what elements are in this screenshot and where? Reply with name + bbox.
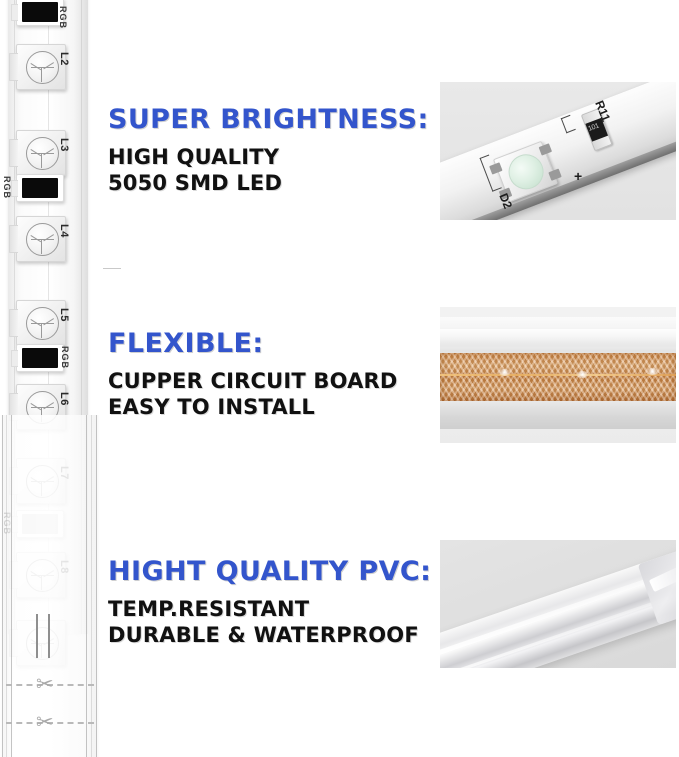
feature-line-1: HIGH QUALITY	[108, 144, 438, 170]
pvc-edge-line	[11, 415, 12, 757]
feature-line-2: DURABLE & WATERPROOF	[108, 622, 438, 648]
led-facet	[30, 149, 41, 156]
feature-heading: FLEXIBLE:	[108, 328, 438, 359]
specular-highlight	[646, 368, 659, 375]
led-facet	[43, 318, 54, 325]
hairline-divider	[103, 268, 121, 269]
solder-pad	[9, 139, 18, 167]
lead-wire	[48, 614, 50, 658]
pvc-edge-line	[2, 415, 3, 757]
silk-label-l5: L5	[58, 308, 70, 322]
led-module	[16, 216, 66, 262]
pvc-edge-line	[86, 415, 87, 757]
feature-heading: HIGHT QUALITY PVC:	[108, 556, 438, 587]
led-dome-icon	[26, 307, 59, 340]
clear-pvc-tube	[440, 317, 676, 429]
solder-pad	[9, 225, 18, 253]
led-dome-icon	[26, 51, 59, 84]
pvc-sleeve-body	[440, 540, 676, 668]
feature-line-1: CUPPER CIRCUIT BOARD	[108, 368, 438, 394]
feature-line-2: EASY TO INSTALL	[108, 394, 438, 420]
rgb-chip-body	[22, 2, 58, 22]
solder-pad	[11, 180, 18, 197]
pvc-edge-line	[6, 415, 7, 757]
led-facet	[43, 234, 54, 241]
silk-label-rgb: RGB	[58, 6, 68, 29]
tip-highlight	[649, 561, 676, 592]
led-dome-icon	[26, 223, 59, 256]
rgb-chip	[16, 174, 64, 202]
silk-label-rgb: RGB	[60, 346, 70, 369]
tube-gloss-highlight	[440, 329, 676, 343]
pvc-sleeve-overlay	[0, 415, 100, 757]
led-pad	[489, 162, 502, 174]
silk-label-plus: +	[574, 168, 582, 184]
infographic-page: RGB L2 L3 RGB	[0, 0, 679, 757]
led-pad	[539, 143, 552, 155]
sleeve-highlight	[440, 572, 676, 668]
feature-heading: SUPER BRIGHTNESS:	[108, 104, 438, 135]
led-dome-icon	[26, 137, 59, 170]
cut-mark: ✂	[6, 672, 94, 698]
cut-mark: ✂	[6, 710, 94, 736]
copper-wire-line	[440, 374, 676, 376]
feature-block-pvc: HIGHT QUALITY PVC: TEMP.RESISTANT DURABL…	[108, 556, 438, 648]
led-lens	[503, 149, 548, 194]
smd-led-closeup-photo: R11 D2 +	[440, 82, 676, 220]
led-facet	[43, 402, 54, 409]
silk-label-rgb: RGB	[2, 176, 12, 199]
solder-pad	[9, 53, 18, 81]
rgb-chip	[16, 344, 64, 372]
led-pad	[548, 168, 561, 180]
pcb-board	[440, 82, 676, 220]
sleeve-open-tip	[638, 542, 676, 625]
lead-wire	[36, 614, 38, 658]
specular-highlight	[576, 371, 589, 378]
silk-label-l2: L2	[58, 52, 70, 66]
led-strip-column: RGB L2 L3 RGB	[0, 0, 105, 757]
pvc-edge-line	[96, 415, 97, 757]
scissors-icon: ✂	[36, 672, 54, 698]
led-facet	[30, 403, 41, 410]
solder-pad	[11, 350, 18, 367]
rgb-chip-body	[22, 348, 58, 368]
copper-braid	[440, 353, 676, 401]
feature-block-flexible: FLEXIBLE: CUPPER CIRCUIT BOARD EASY TO I…	[108, 328, 438, 420]
led-facet	[30, 319, 41, 326]
feature-line-2: 5050 SMD LED	[108, 170, 438, 196]
silk-label-l6: L6	[58, 392, 70, 406]
feature-block-brightness: SUPER BRIGHTNESS: HIGH QUALITY 5050 SMD …	[108, 104, 438, 196]
feature-line-1: TEMP.RESISTANT	[108, 596, 438, 622]
rgb-chip	[16, 0, 64, 26]
pvc-edge-line	[91, 415, 92, 757]
copper-circuit-board-photo	[440, 307, 676, 443]
led-facet	[30, 235, 41, 242]
led-module	[16, 44, 66, 90]
solder-pad	[9, 309, 18, 337]
rgb-chip-body	[22, 178, 58, 198]
led-module	[16, 130, 66, 176]
pvc-sleeve-photo	[440, 540, 676, 668]
specular-highlight	[498, 369, 511, 376]
led-facet	[43, 148, 54, 155]
led-facet	[30, 63, 41, 70]
silk-label-l4: L4	[58, 224, 70, 238]
scissors-icon: ✂	[36, 710, 54, 736]
led-module	[16, 300, 66, 346]
solder-pad	[11, 4, 18, 21]
silk-bracket	[561, 115, 576, 134]
silk-label-l3: L3	[58, 138, 70, 152]
led-facet	[43, 62, 54, 69]
